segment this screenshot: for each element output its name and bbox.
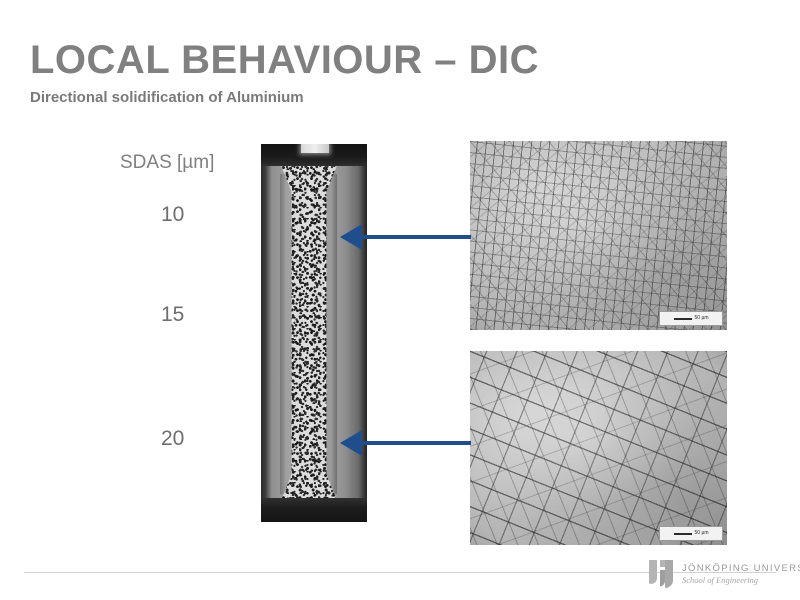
microstructure-texture-fine bbox=[470, 141, 727, 330]
arrow-shaft bbox=[360, 235, 471, 239]
logo-university-name: JÖNKÖPING UNIVERSITY bbox=[682, 563, 800, 574]
microstructure-texture-coarse bbox=[470, 351, 727, 545]
page-title: LOCAL BEHAVIOUR – DIC bbox=[30, 38, 539, 83]
scale-bar-line bbox=[674, 533, 692, 535]
slide: LOCAL BEHAVIOUR – DIC Directional solidi… bbox=[0, 0, 800, 600]
specimen-edge-shadow-right bbox=[331, 174, 337, 494]
scale-bar-bottom: 50 µm bbox=[659, 526, 723, 541]
arrow-head bbox=[340, 430, 362, 456]
page-subtitle: Directional solidification of Aluminium bbox=[30, 89, 304, 106]
specimen-edge-shadow-left bbox=[280, 174, 286, 494]
scale-bar-top: 50 µm bbox=[659, 311, 723, 326]
scale-bar-line bbox=[674, 318, 692, 320]
sdas-value-10: 10 bbox=[161, 203, 184, 227]
arrow-shaft bbox=[360, 441, 471, 445]
sdas-column-header: SDAS [µm] bbox=[120, 152, 214, 174]
specimen-gauge-section bbox=[280, 152, 338, 514]
scale-bar-label: 50 µm bbox=[695, 316, 709, 321]
university-logo: JÖNKÖPING UNIVERSITY School of Engineeri… bbox=[648, 559, 800, 589]
specimen-photo bbox=[261, 144, 367, 522]
sdas-value-20: 20 bbox=[161, 427, 184, 451]
sdas-value-15: 15 bbox=[161, 303, 184, 327]
logo-school-name: School of Engineering bbox=[682, 575, 800, 585]
micrograph-top: 50 µm bbox=[470, 141, 727, 330]
micrograph-bottom: 50 µm bbox=[470, 351, 727, 545]
arrow-left-icon-top bbox=[340, 224, 471, 250]
arrow-left-icon-bottom bbox=[340, 430, 471, 456]
logo-text-block: JÖNKÖPING UNIVERSITY School of Engineeri… bbox=[682, 563, 800, 584]
arrow-head bbox=[340, 224, 362, 250]
scale-bar-label: 50 µm bbox=[695, 531, 709, 536]
shield-logo-icon bbox=[648, 559, 674, 589]
specimen-grip-bottom bbox=[261, 498, 367, 522]
specimen-grip-top bbox=[261, 144, 367, 166]
